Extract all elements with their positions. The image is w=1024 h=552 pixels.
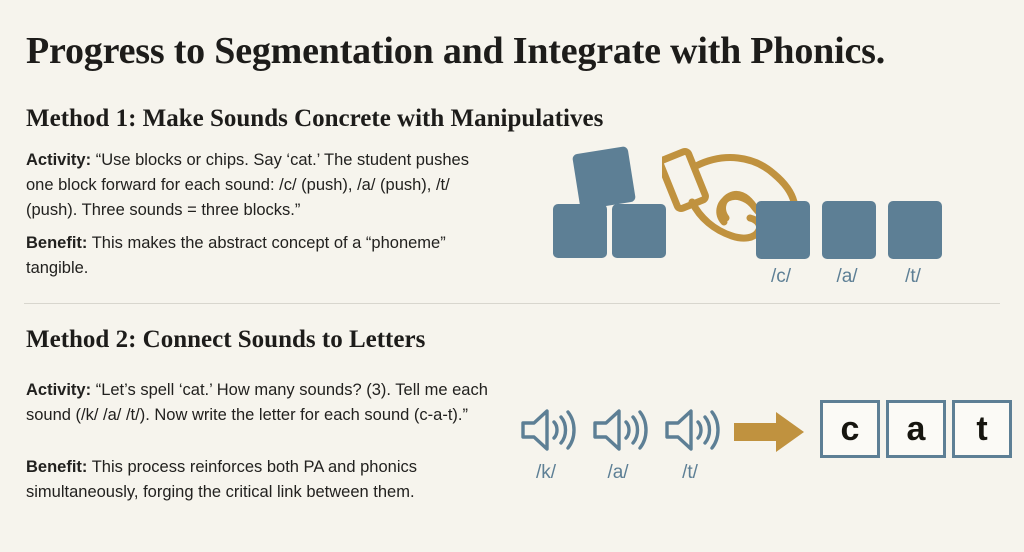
loose-block-left bbox=[553, 204, 607, 258]
method-1-activity: Activity: “Use blocks or chips. Say ‘cat… bbox=[26, 148, 496, 223]
method-2-heading: Method 2: Connect Sounds to Letters bbox=[26, 325, 425, 355]
sound-label-t: /t/ bbox=[660, 462, 720, 484]
sound-block-c bbox=[756, 201, 810, 259]
sound-block-a bbox=[822, 201, 876, 259]
method-2-activity-label: Activity: bbox=[26, 381, 91, 399]
speaker-sound-icon-k bbox=[518, 404, 578, 456]
page-title: Progress to Segmentation and Integrate w… bbox=[26, 28, 885, 74]
method-2-benefit: Benefit: This process reinforces both PA… bbox=[26, 455, 496, 505]
letter-box-c: c bbox=[820, 400, 880, 458]
arrow-right-icon bbox=[734, 410, 806, 454]
sound-label-a: /a/ bbox=[588, 462, 648, 484]
method-2-benefit-label: Benefit: bbox=[26, 458, 87, 476]
method-2-activity: Activity: “Let’s spell ‘cat.’ How many s… bbox=[26, 378, 496, 428]
section-divider bbox=[24, 303, 1000, 304]
sound-label-k: /k/ bbox=[516, 462, 576, 484]
loose-block-tilted bbox=[572, 146, 636, 210]
method-1-illustration: /c/ /a/ /t/ bbox=[540, 128, 980, 303]
method-2-activity-text: “Let’s spell ‘cat.’ How many sounds? (3)… bbox=[26, 381, 488, 424]
letter-box-t: t bbox=[952, 400, 1012, 458]
block-label-t: /t/ bbox=[886, 266, 940, 288]
letter-box-a: a bbox=[886, 400, 946, 458]
method-1-benefit-label: Benefit: bbox=[26, 234, 87, 252]
method-1-heading: Method 1: Make Sounds Concrete with Mani… bbox=[26, 104, 603, 134]
block-label-c: /c/ bbox=[754, 266, 808, 288]
method-1-benefit: Benefit: This makes the abstract concept… bbox=[26, 231, 496, 281]
method-1-benefit-text: This makes the abstract concept of a “ph… bbox=[26, 234, 446, 277]
method-1-activity-label: Activity: bbox=[26, 151, 91, 169]
sound-block-t bbox=[888, 201, 942, 259]
block-label-a: /a/ bbox=[820, 266, 874, 288]
method-1-activity-text: “Use blocks or chips. Say ‘cat.’ The stu… bbox=[26, 151, 469, 219]
speaker-sound-icon-a bbox=[590, 404, 650, 456]
loose-block-right bbox=[612, 204, 666, 258]
method-2-illustration: /k/ /a/ /t/ c a t bbox=[512, 398, 1002, 508]
slide-canvas: Progress to Segmentation and Integrate w… bbox=[0, 0, 1024, 552]
speaker-sound-icon-t bbox=[662, 404, 722, 456]
